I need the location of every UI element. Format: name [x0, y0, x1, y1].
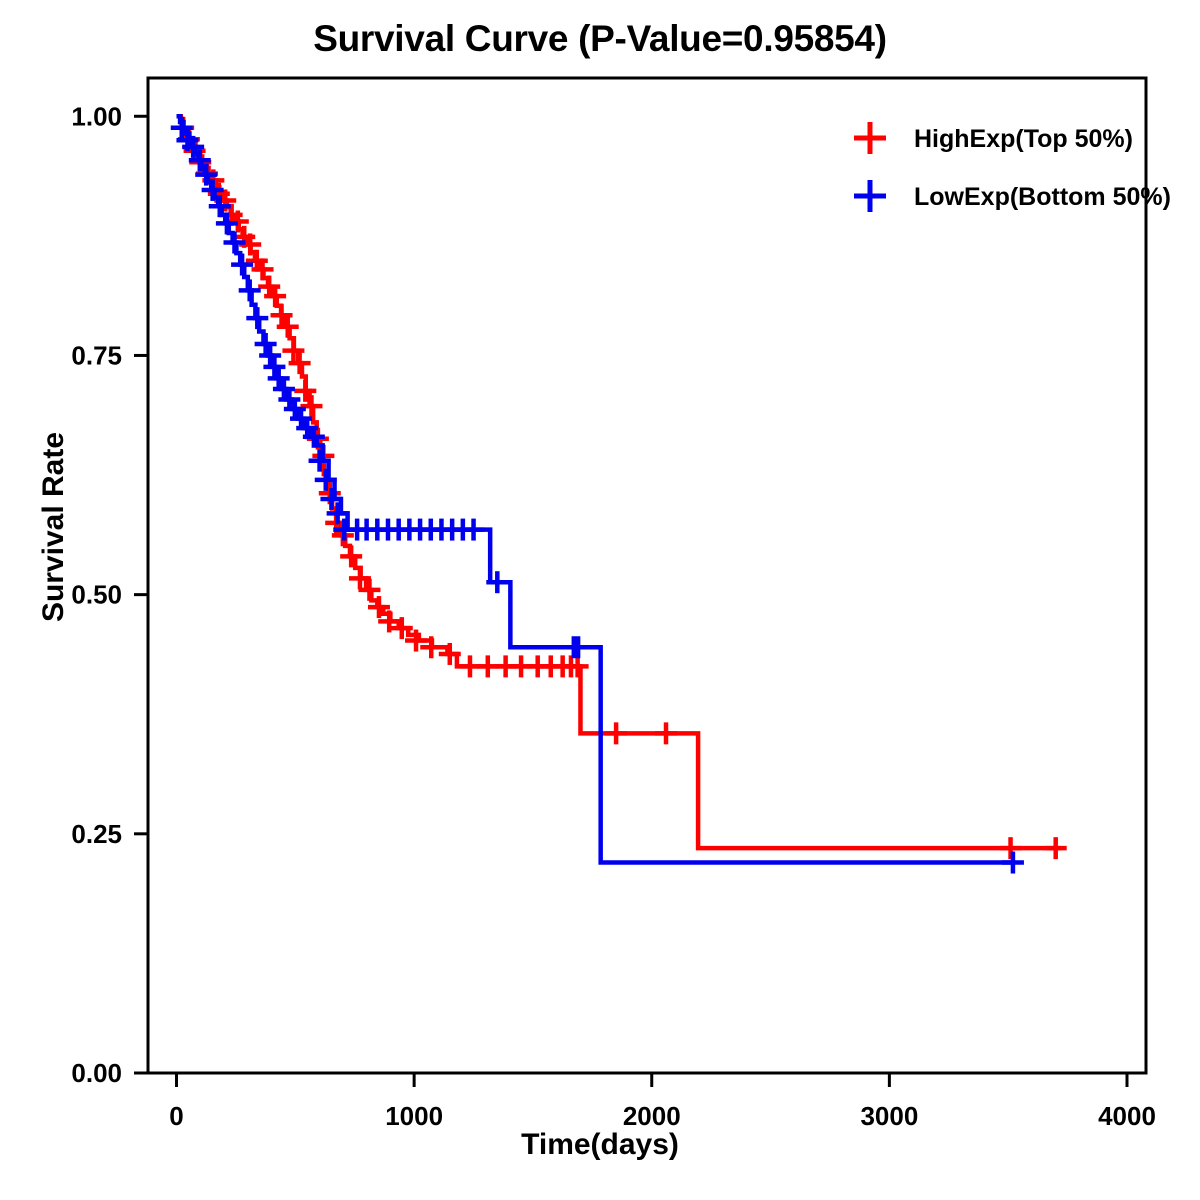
- x-tick-label: 3000: [860, 1101, 918, 1131]
- plot-border: [148, 78, 1146, 1073]
- chart-legend: HighExp(Top 50%)LowExp(Bottom 50%): [854, 122, 1171, 212]
- x-axis-label: Time(days): [0, 1128, 1200, 1162]
- chart-page: Survival Curve (P-Value=0.95854) Surviva…: [0, 0, 1200, 1200]
- y-axis-ticks: 0.000.250.500.751.00: [71, 101, 148, 1088]
- y-tick-label: 0.25: [71, 819, 122, 849]
- x-tick-label: 2000: [623, 1101, 681, 1131]
- survival-step-line: [177, 116, 1061, 848]
- x-axis-ticks: 01000200030004000: [169, 1073, 1156, 1131]
- legend-label-lowexp: LowExp(Bottom 50%): [914, 183, 1171, 211]
- y-tick-label: 0.75: [71, 340, 122, 370]
- survival-step-line: [177, 116, 1016, 862]
- censor-marks: [172, 117, 1067, 859]
- y-tick-label: 1.00: [71, 101, 122, 131]
- legend-label-highexp: HighExp(Top 50%): [914, 125, 1133, 153]
- series-lowexp: [171, 116, 1024, 873]
- y-tick-label: 0.50: [71, 580, 122, 610]
- legend-item-lowexp: LowExp(Bottom 50%): [854, 180, 1171, 212]
- x-tick-label: 0: [169, 1101, 183, 1131]
- y-tick-label: 0.00: [71, 1058, 122, 1088]
- series-highexp: [172, 116, 1067, 859]
- y-axis-label: Survival Rate: [37, 377, 71, 677]
- legend-item-highexp: HighExp(Top 50%): [854, 122, 1133, 154]
- plot-frame: [148, 78, 1146, 1073]
- survival-plot: 01000200030004000 0.000.250.500.751.00 H…: [0, 0, 1200, 1200]
- x-tick-label: 1000: [385, 1101, 443, 1131]
- x-tick-label: 4000: [1098, 1101, 1156, 1131]
- page-title: Survival Curve (P-Value=0.95854): [0, 18, 1200, 60]
- series-layer: [171, 116, 1067, 873]
- censor-marks: [171, 117, 1024, 874]
